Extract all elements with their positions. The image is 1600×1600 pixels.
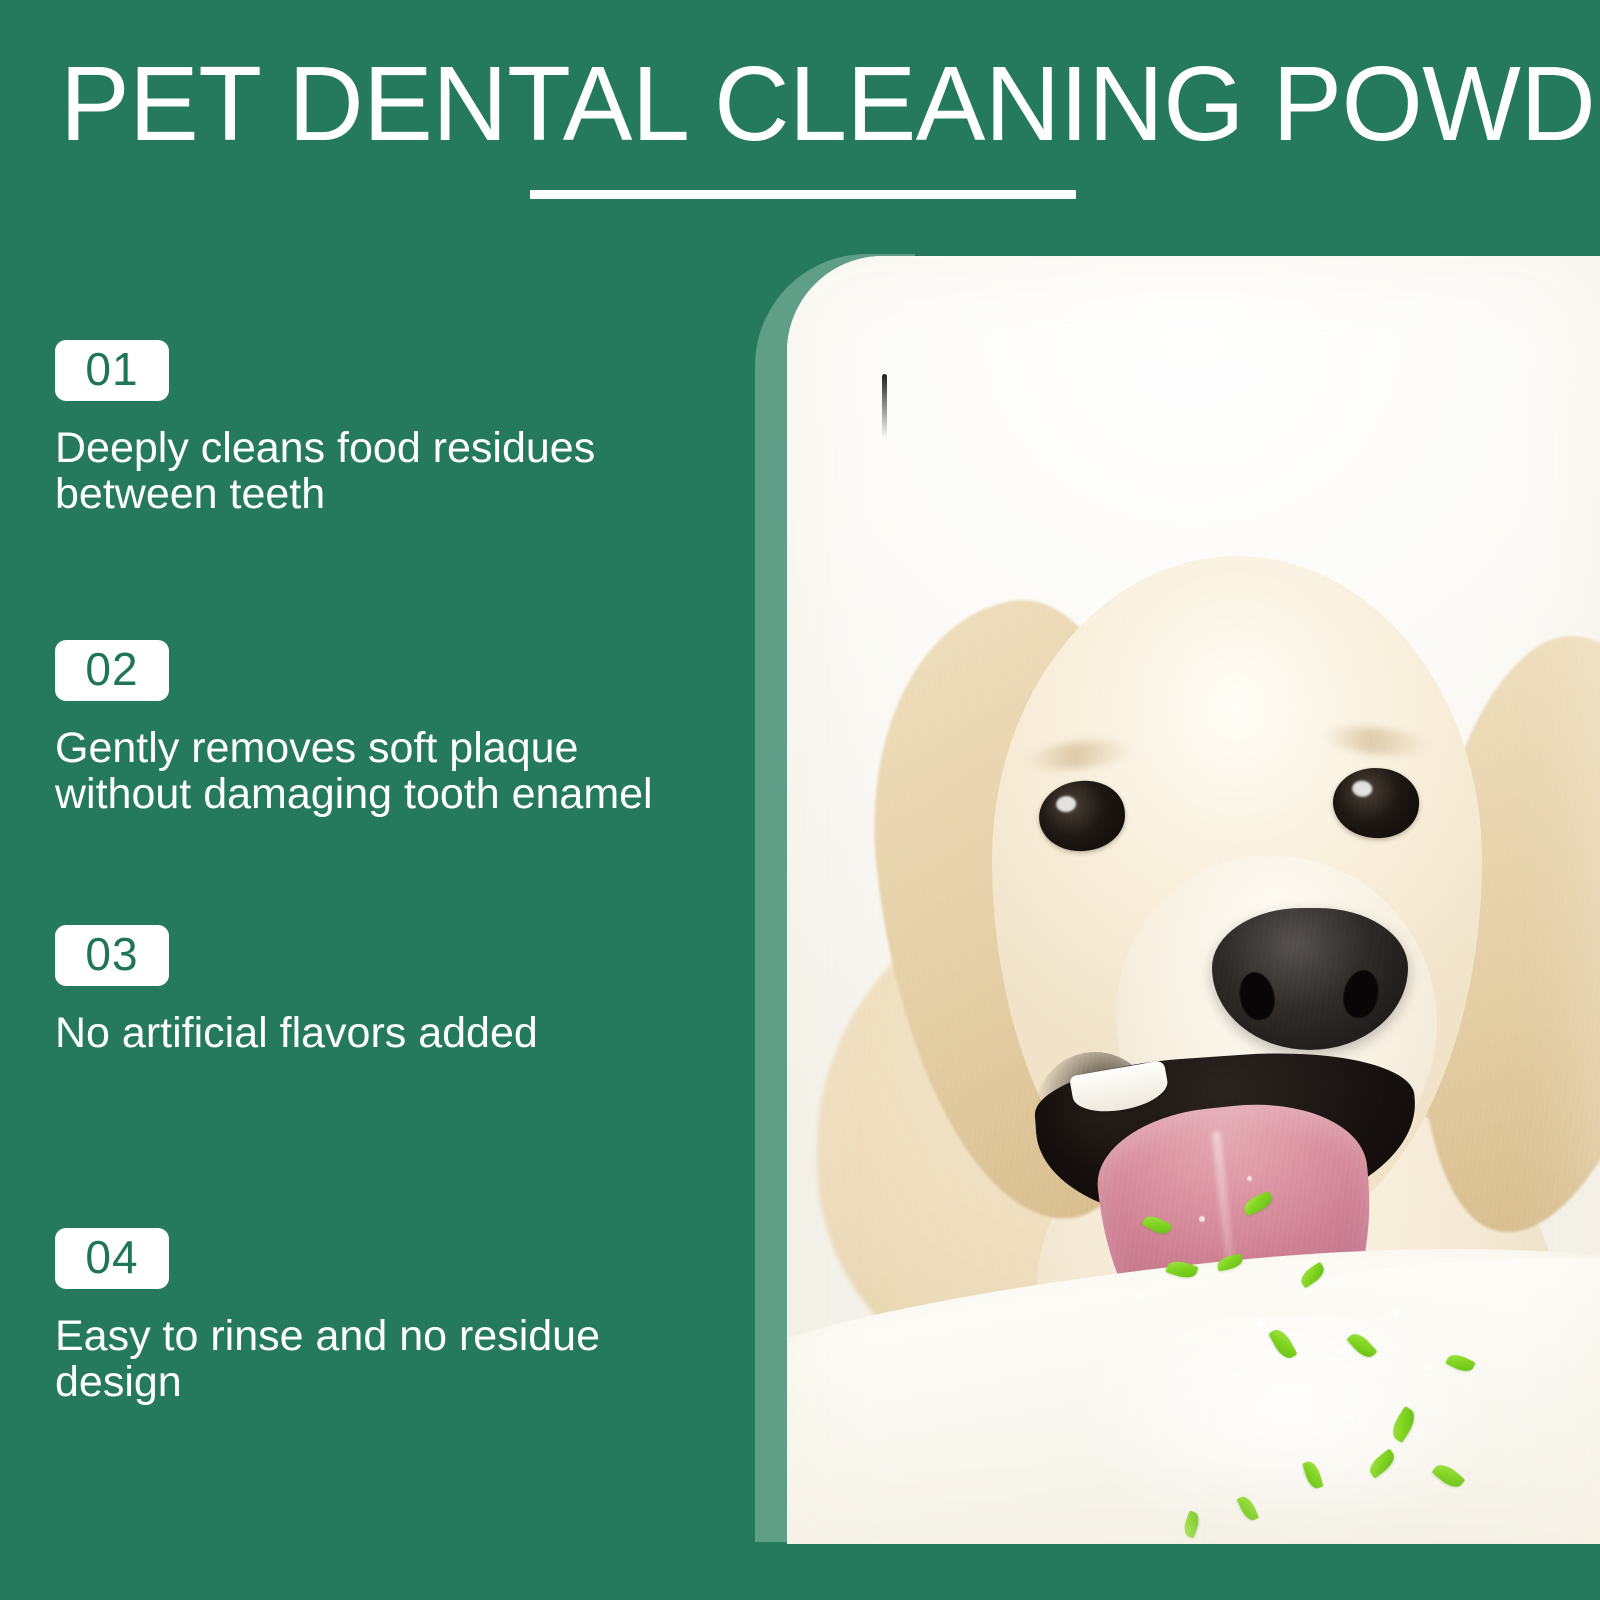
eye-highlight-right [1352,780,1373,798]
sparkle-particle [1199,1216,1205,1222]
sparkle-particle [1139,1294,1145,1300]
feature-text-04: Easy to rinse and no residue design [55,1313,715,1405]
sparkle-particle [1391,1308,1400,1317]
product-photo-panel [787,256,1600,1544]
nostril-right [1339,967,1382,1021]
feature-item-03: 03 No artificial flavors added [55,925,715,1056]
feature-list: 01 Deeply cleans food residues between t… [0,0,740,1600]
feature-number-badge-02: 02 [55,640,169,701]
sparkle-particle [1257,1318,1266,1327]
feature-number-badge-01: 01 [55,340,169,401]
feature-number-badge-03: 03 [55,925,169,986]
dog-philtrum [882,374,887,438]
eye-highlight-left [1056,795,1077,812]
sparkle-particle [1277,1388,1285,1396]
feature-text-01: Deeply cleans food residues between teet… [55,425,715,517]
feature-item-01: 01 Deeply cleans food residues between t… [55,340,715,517]
feature-item-02: 02 Gently removes soft plaque without da… [55,640,715,817]
feature-text-02: Gently removes soft plaque without damag… [55,725,715,817]
feature-text-03: No artificial flavors added [55,1010,715,1056]
feature-number-badge-04: 04 [55,1228,169,1289]
sparkle-particle [1423,1364,1430,1371]
sparkle-particle [1339,1348,1346,1355]
infographic-canvas: PET DENTAL CLEANING POWDER 01 Deeply cle… [0,0,1600,1600]
puppy-photo [787,256,1600,1544]
feature-item-04: 04 Easy to rinse and no residue design [55,1228,715,1405]
nostril-left [1235,969,1278,1023]
sparkle-particle [1347,1414,1354,1421]
sparkle-particle [1182,1334,1188,1340]
sparkle-particle [1247,1176,1252,1181]
